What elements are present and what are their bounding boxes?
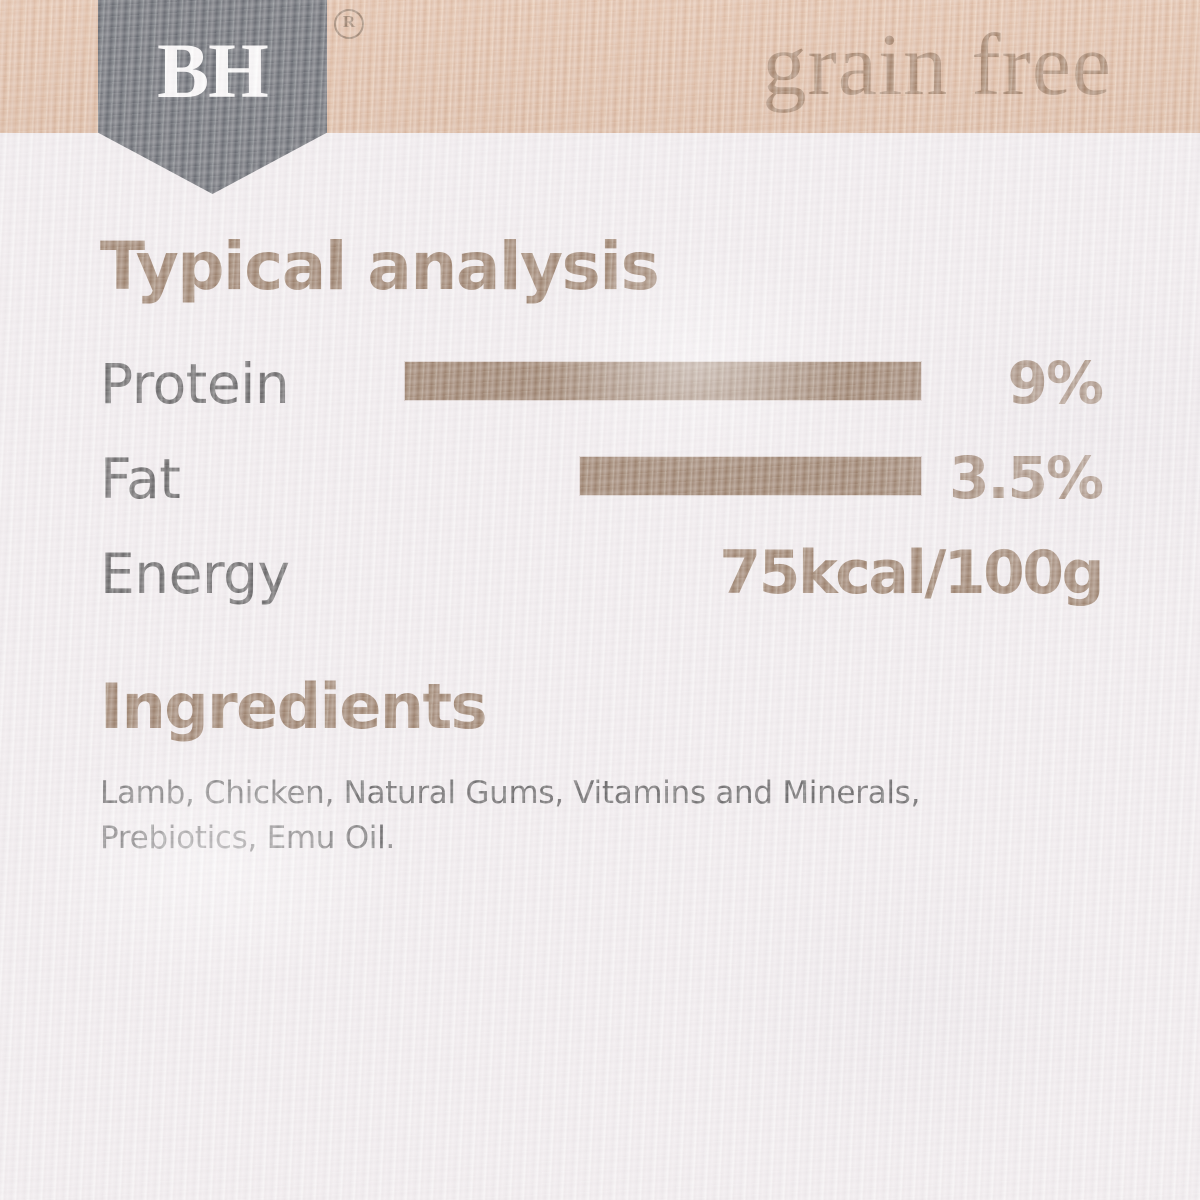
analysis-row-label-energy: Energy xyxy=(100,541,290,607)
analysis-bar-fill-fat xyxy=(580,457,921,495)
analysis-row: Energy 75kcal/100g xyxy=(0,541,1200,636)
analysis-row-value-fat: 3.5% xyxy=(949,442,1102,514)
analysis-bar-fill-protein xyxy=(405,362,921,400)
grain-free-tagline: grain free xyxy=(762,6,1112,126)
analysis-table: Protein 9% Fat 3.5% Energy 75kcal/100g xyxy=(0,351,1200,636)
analysis-row: Protein 9% xyxy=(0,351,1200,446)
typical-analysis-heading: Typical analysis xyxy=(100,231,658,303)
brand-initials: BH xyxy=(157,32,268,110)
analysis-row-value-protein: 9% xyxy=(1008,347,1102,419)
analysis-bar-track-protein xyxy=(405,362,921,400)
analysis-row-value-energy: 75kcal/100g xyxy=(719,537,1102,609)
analysis-row-label-protein: Protein xyxy=(100,351,289,417)
nutrition-label-card: grain free BH R Typical analysis Protein… xyxy=(0,0,1200,1200)
analysis-row-label-fat: Fat xyxy=(100,446,180,512)
ingredients-list-text: Lamb, Chicken, Natural Gums, Vitamins an… xyxy=(100,771,960,861)
ingredients-heading: Ingredients xyxy=(100,673,486,741)
label-content: Typical analysis Protein 9% Fat 3.5% Ene… xyxy=(0,133,1200,1200)
analysis-bar-track-fat xyxy=(405,457,921,495)
registered-trademark-icon: R xyxy=(334,9,364,39)
analysis-row: Fat 3.5% xyxy=(0,446,1200,541)
